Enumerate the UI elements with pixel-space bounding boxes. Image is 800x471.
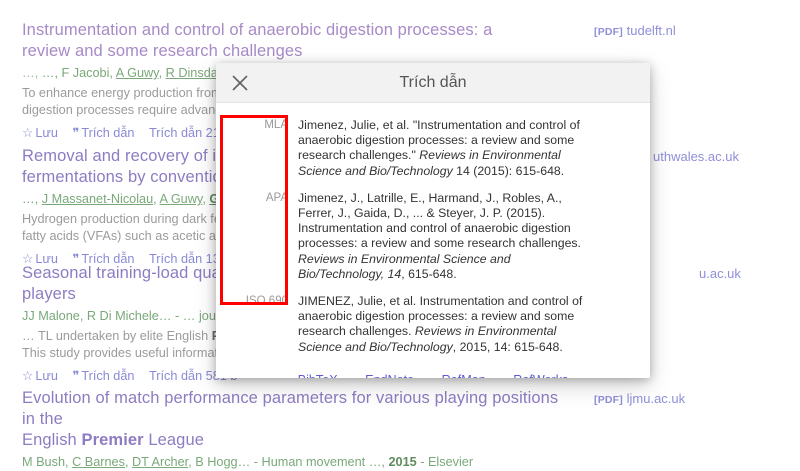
citation-text[interactable]: JIMENEZ, Julie, et al. Instrumentation a… [298,282,612,355]
result-title-line-1: Evolution of match performance parameter… [22,389,558,428]
save-label: Lưu [35,369,58,383]
export-refman-link[interactable]: RefMan [442,373,486,378]
save-action[interactable]: ☆Lưu [22,124,58,142]
citation-style-label: APA [216,179,298,206]
dialog-header: Trích dẫn [216,63,650,103]
star-icon: ☆ [22,124,33,142]
citation-text[interactable]: Jimenez, J., Latrille, E., Harmand, J., … [298,179,612,282]
result-pdf-link[interactable]: [PDF] tudelft.nl [594,22,676,41]
result-pdf-link[interactable]: [PDF] ljmu.ac.uk [594,390,685,409]
citation-style-label: MLA [216,103,298,133]
quote-icon: ❞ [73,367,80,385]
save-label: Lưu [35,126,58,140]
star-icon: ☆ [22,367,33,385]
result-domain-link[interactable]: uthwales.ac.uk [653,148,739,166]
result-title-link[interactable]: Evolution of match performance parameter… [22,388,562,451]
byline-prefix: …, [22,66,42,80]
citation-row-apa: APA Jimenez, J., Latrille, E., Harmand, … [216,179,650,282]
cite-action[interactable]: ❞Trích dẫn [73,124,135,142]
cite-label: Trích dẫn [81,369,134,383]
result-byline: M Bush, C Barnes, DT Archer, B Hogg… - H… [22,454,782,471]
pdf-badge: [PDF] [594,26,623,38]
citation-row-mla: MLA Jimenez, Julie, et al. "Instrumentat… [216,103,650,179]
pdf-domain: u.ac.uk [699,266,741,281]
citation-dialog: Trích dẫn MLA Jimenez, Julie, et al. "In… [216,63,650,378]
result-title-line-2: fermentations by conventional [22,168,244,186]
byline-year: 2015 [388,455,416,469]
citation-row-iso690: ISO 690 JIMENEZ, Julie, et al. Instrumen… [216,282,650,355]
pdf-domain: ljmu.ac.uk [627,391,686,406]
citation-list: MLA Jimenez, Julie, et al. "Instrumentat… [216,103,650,378]
citation-text[interactable]: Jimenez, Julie, et al. "Instrumentation … [298,103,612,179]
pdf-domain: tudelft.nl [627,23,676,38]
quote-icon: ❞ [73,124,80,142]
pdf-domain: uthwales.ac.uk [653,149,739,164]
dialog-title: Trích dẫn [216,73,650,93]
result-title-line-2: players [22,285,76,303]
export-links: BibTeX EndNote RefMan RefWorks [216,373,650,378]
cite-action[interactable]: ❞Trích dẫn [73,367,135,385]
result-title-link[interactable]: Instrumentation and control of anaerobic… [22,20,527,62]
export-refworks-link[interactable]: RefWorks [513,373,568,378]
export-bibtex-link[interactable]: BibTeX [298,373,338,378]
citation-style-label: ISO 690 [216,282,298,309]
cite-label: Trích dẫn [81,126,134,140]
byline-publisher: - Elsevier [417,455,473,469]
result-domain-link[interactable]: u.ac.uk [699,265,741,283]
save-action[interactable]: ☆Lưu [22,367,58,385]
export-endnote-link[interactable]: EndNote [365,373,414,378]
pdf-badge: [PDF] [594,394,623,406]
result-title-line-2: English Premier League [22,431,204,449]
